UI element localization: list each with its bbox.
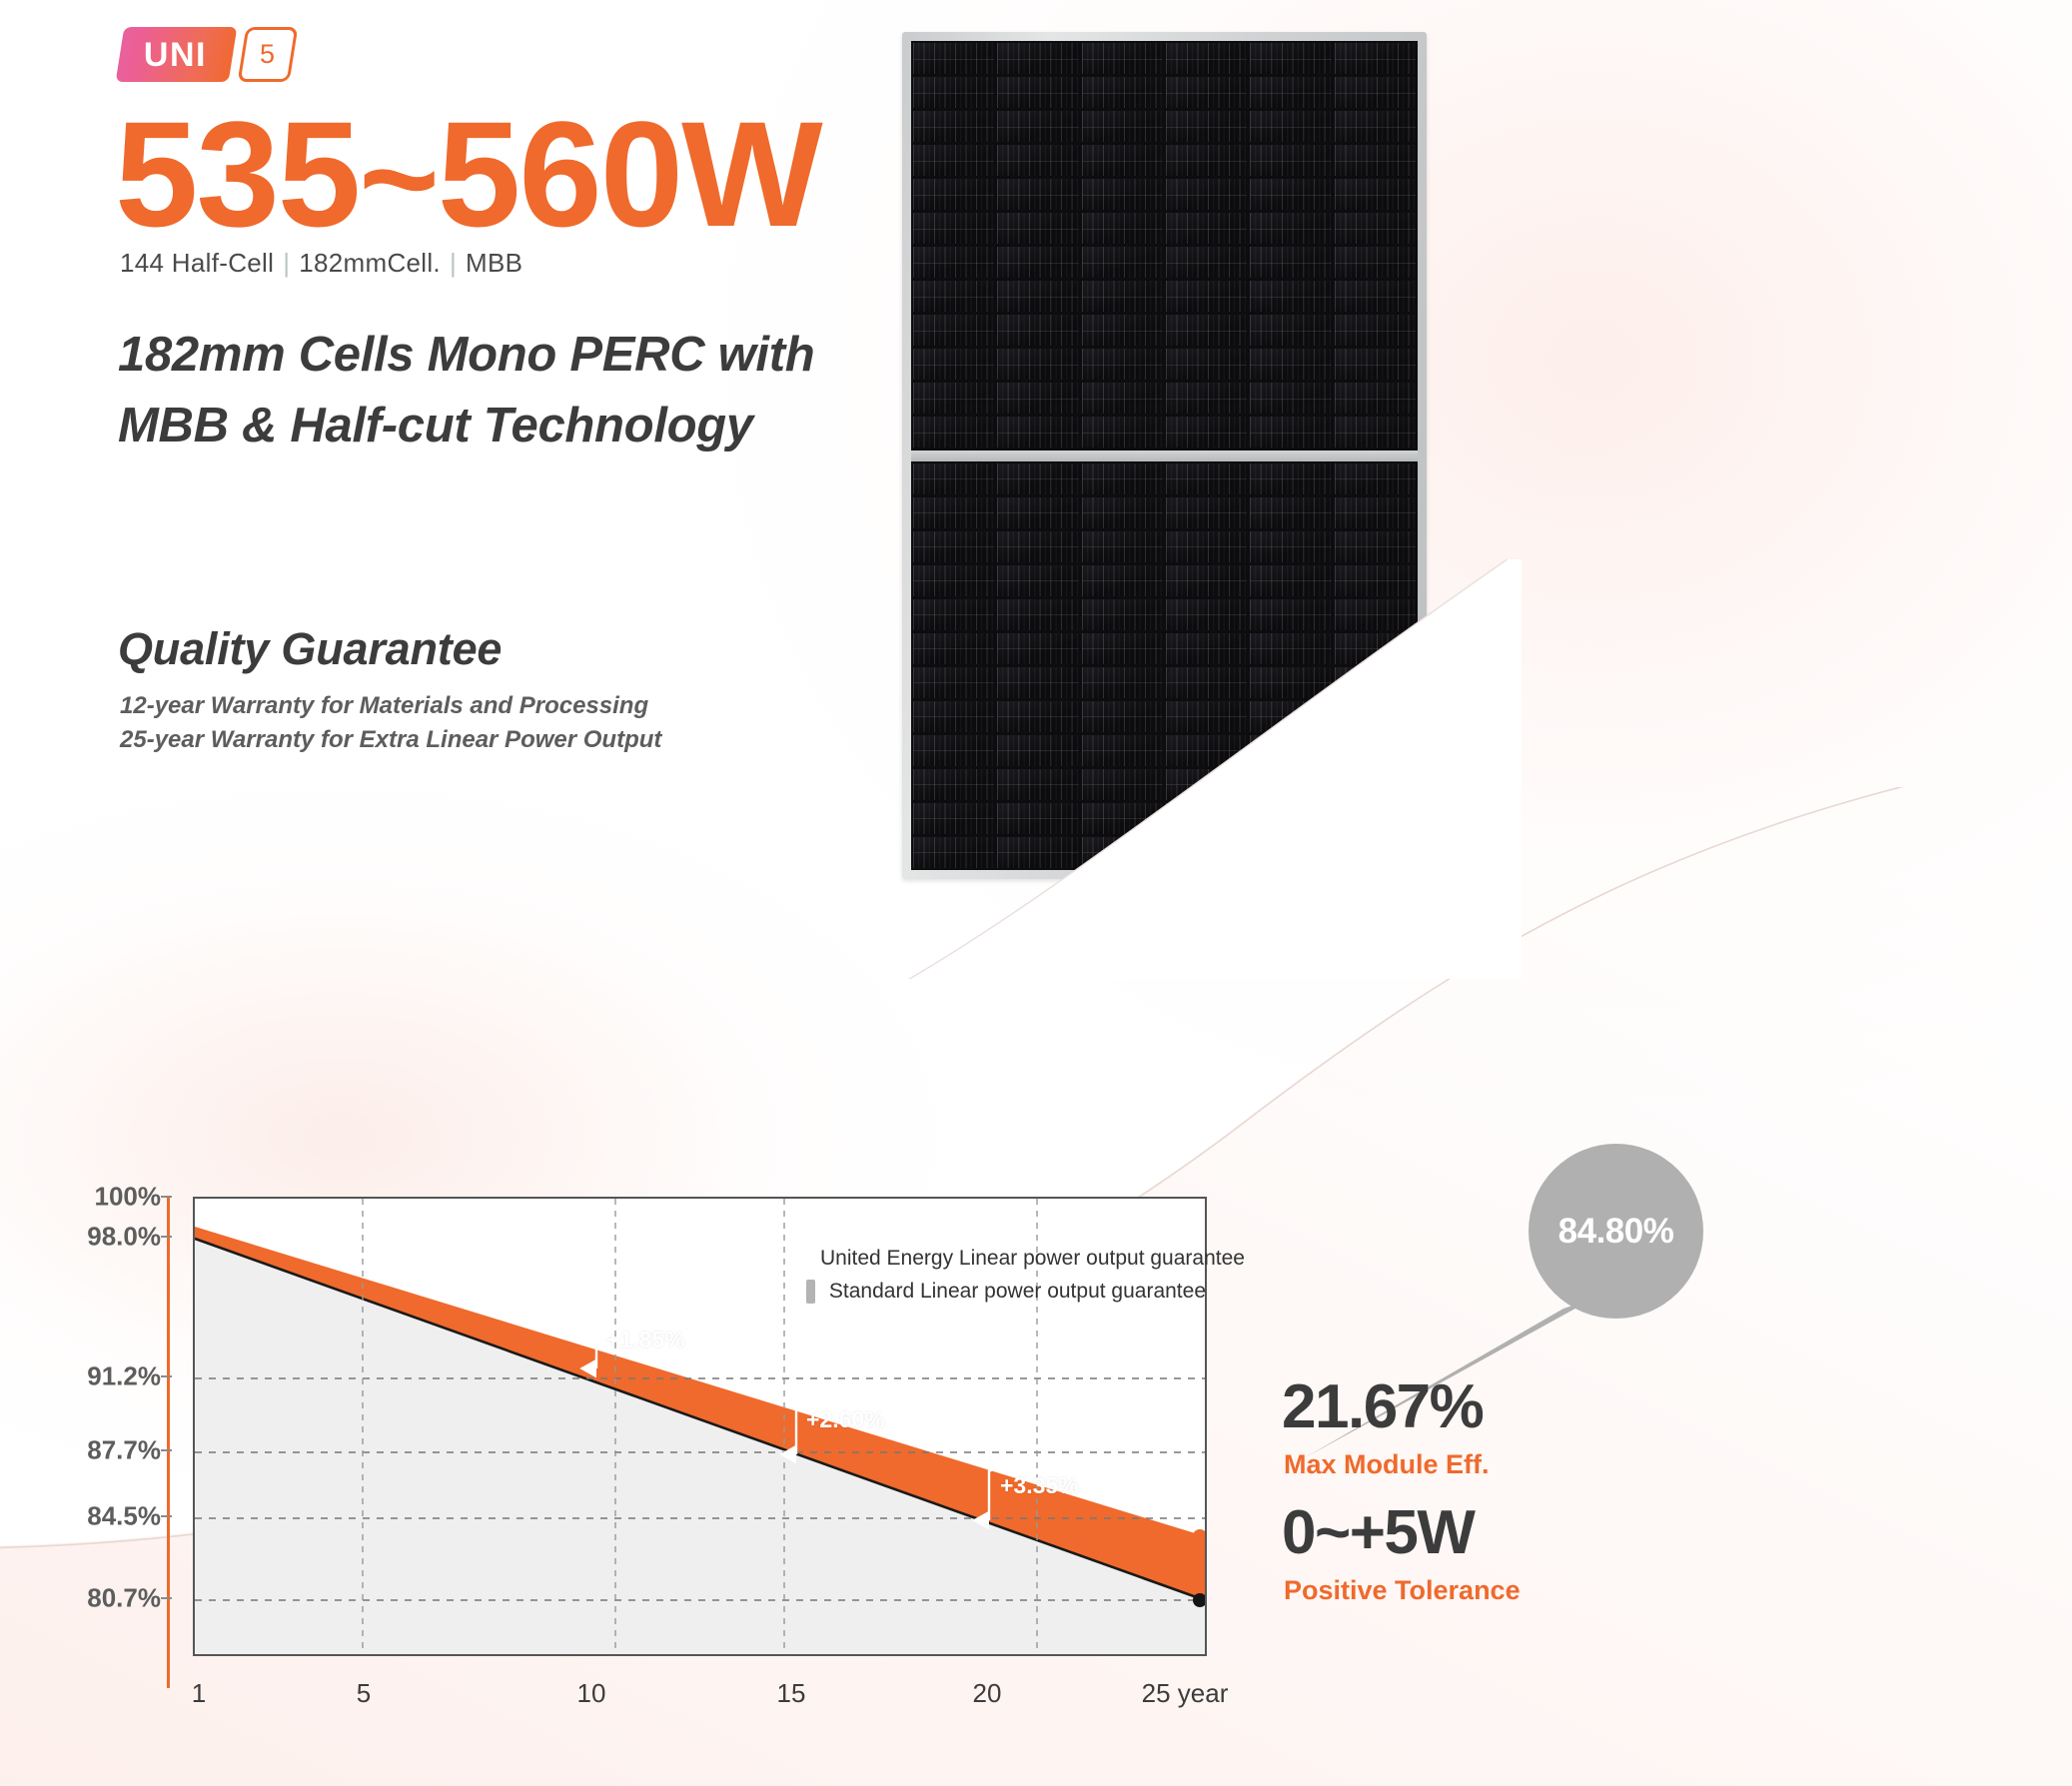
solar-cell [1250, 349, 1331, 380]
cell-column [1166, 463, 1247, 869]
quality-guarantee-lines: 12-year Warranty for Materials and Proce… [120, 689, 661, 757]
solar-cell [913, 145, 994, 176]
solar-cell [913, 633, 994, 664]
solar-cell [1250, 463, 1331, 494]
spec-separator-2: | [441, 248, 466, 278]
solar-cell [913, 497, 994, 528]
solar-cell [1335, 565, 1416, 596]
generation-number-box: 5 [238, 27, 299, 82]
solar-cell [1082, 531, 1163, 562]
y-tick-mark-80 [161, 1597, 172, 1599]
x-tick-label-20: 20 [973, 1678, 1002, 1709]
solar-cell [1250, 281, 1331, 312]
cell-column [913, 43, 994, 448]
cell-column [1166, 43, 1247, 448]
cell-column [1082, 463, 1163, 869]
solar-cell [1250, 531, 1331, 562]
solar-cell [913, 531, 994, 562]
solar-cell [997, 281, 1078, 312]
x-tick-label-5: 5 [357, 1678, 371, 1709]
power-range-max: 560W [438, 90, 821, 258]
solar-cell [913, 315, 994, 346]
solar-cell [997, 667, 1078, 698]
solar-cell [1250, 77, 1331, 108]
solar-cell [1335, 383, 1416, 414]
solar-cell [997, 565, 1078, 596]
solar-cell [997, 701, 1078, 732]
solar-cell [1250, 837, 1331, 868]
solar-cell [997, 179, 1078, 210]
solar-cell [997, 349, 1078, 380]
cell-column [1250, 463, 1331, 869]
solar-cell [1335, 417, 1416, 447]
y-tick-mark-100 [161, 1196, 172, 1198]
solar-cell [1166, 837, 1247, 868]
solar-cell [1250, 497, 1331, 528]
solar-cell [913, 565, 994, 596]
solar-cell [1082, 417, 1163, 447]
legend-swatch-gray [806, 1280, 815, 1304]
solar-cell [1166, 247, 1247, 278]
legend-item-united-energy: United Energy Linear power output guaran… [806, 1247, 1206, 1271]
solar-cell [1335, 497, 1416, 528]
solar-cell [1250, 633, 1331, 664]
solar-cell [1082, 565, 1163, 596]
solar-cell [1335, 633, 1416, 664]
solar-cell [1166, 77, 1247, 108]
max-module-efficiency-value: 21.67% [1282, 1376, 1483, 1438]
spec-summary-line: 144 Half-Cell|182mmCell.|MBB [120, 248, 522, 279]
solar-cell [913, 179, 994, 210]
solar-cell [1335, 213, 1416, 244]
spec-item-busbar: MBB [466, 248, 522, 278]
spec-separator-1: | [274, 248, 299, 278]
solar-cell [1335, 43, 1416, 74]
solar-cell [1250, 667, 1331, 698]
solar-cell [1335, 667, 1416, 698]
solar-cell [1082, 247, 1163, 278]
solar-cell [1082, 497, 1163, 528]
y-tick-label-100: 100% [95, 1182, 162, 1213]
legend-label-united-energy: United Energy Linear power output guaran… [820, 1247, 1245, 1271]
solar-cell [1166, 315, 1247, 346]
module-frame [902, 32, 1427, 879]
solar-cell [1250, 111, 1331, 142]
delta-label-year20: +3.35% [1000, 1472, 1079, 1499]
solar-cell [1082, 769, 1163, 800]
solar-cell [913, 701, 994, 732]
solar-cell [913, 463, 994, 494]
solar-cell [1250, 179, 1331, 210]
x-tick-label-10: 10 [577, 1678, 606, 1709]
y-tick-label-84: 84.5% [87, 1501, 161, 1532]
cell-column [997, 43, 1078, 448]
solar-cell [997, 145, 1078, 176]
solar-cell [1082, 349, 1163, 380]
legend-item-standard: Standard Linear power output guarantee [806, 1280, 1206, 1304]
module-center-bar [911, 450, 1418, 461]
solar-cell [997, 315, 1078, 346]
spec-item-cell-size: 182mmCell. [299, 248, 441, 278]
solar-cell [1082, 111, 1163, 142]
chart-y-axis-labels: 100% 98.0% 91.2% 87.7% 84.5% 80.7% [0, 1159, 175, 1578]
solar-cell [1166, 213, 1247, 244]
solar-cell [1335, 349, 1416, 380]
solar-cell [913, 417, 994, 447]
solar-cell [1250, 803, 1331, 834]
solar-cell [997, 531, 1078, 562]
generation-number-label: 5 [261, 41, 276, 68]
solar-cell [1082, 837, 1163, 868]
power-range-min: 535 [115, 90, 359, 258]
y-tick-mark-91 [161, 1375, 172, 1377]
solar-cell [997, 803, 1078, 834]
solar-cell [1335, 281, 1416, 312]
y-tick-label-80: 80.7% [87, 1583, 161, 1614]
solar-cell [1335, 247, 1416, 278]
solar-cell [997, 417, 1078, 447]
solar-cell [1082, 145, 1163, 176]
solar-cell [1335, 145, 1416, 176]
solar-cell [913, 769, 994, 800]
solar-cell [1082, 599, 1163, 630]
solar-cell [1250, 565, 1331, 596]
solar-cell [1082, 463, 1163, 494]
x-tick-label-25: 25 year [1142, 1678, 1229, 1709]
solar-cell [1335, 179, 1416, 210]
solar-cell [913, 837, 994, 868]
solar-cell [1250, 315, 1331, 346]
solar-cell [913, 667, 994, 698]
solar-cell [997, 735, 1078, 766]
chart-legend: United Energy Linear power output guaran… [806, 1247, 1206, 1313]
solar-cell [997, 111, 1078, 142]
max-module-efficiency-label: Max Module Eff. [1284, 1451, 1490, 1478]
solar-cell [997, 43, 1078, 74]
solar-cell [1166, 281, 1247, 312]
solar-module-image [902, 32, 1427, 879]
cell-column [997, 463, 1078, 869]
solar-cell [1082, 179, 1163, 210]
end-of-warranty-output-bubble: 84.80% [1529, 1144, 1703, 1319]
solar-cell [1082, 735, 1163, 766]
cell-column [1250, 43, 1331, 448]
solar-cell [1335, 463, 1416, 494]
cell-column [913, 463, 994, 869]
y-tick-label-87: 87.7% [87, 1435, 161, 1466]
solar-cell [997, 633, 1078, 664]
x-tick-label-1: 1 [192, 1678, 206, 1709]
solar-cell [1166, 803, 1247, 834]
solar-cell [1166, 531, 1247, 562]
solar-cell [913, 213, 994, 244]
solar-cell [913, 349, 994, 380]
solar-cell [913, 803, 994, 834]
solar-cell [1335, 701, 1416, 732]
solar-cell [1335, 735, 1416, 766]
solar-cell [1335, 599, 1416, 630]
solar-cell [1082, 315, 1163, 346]
power-range-tilde: ~ [359, 102, 438, 256]
solar-cell [1166, 43, 1247, 74]
solar-cell [1166, 463, 1247, 494]
solar-cell [1250, 701, 1331, 732]
cell-column [1082, 43, 1163, 448]
module-face [911, 41, 1418, 870]
solar-cell [997, 77, 1078, 108]
y-tick-mark-98 [161, 1236, 172, 1238]
solar-cell [1166, 497, 1247, 528]
uni-pill-label: UNI [144, 38, 207, 72]
solar-cell [1166, 667, 1247, 698]
solar-cell [1250, 735, 1331, 766]
cell-array-top-half [911, 41, 1418, 450]
solar-cell [913, 383, 994, 414]
solar-cell [1335, 315, 1416, 346]
solar-cell [913, 281, 994, 312]
solar-cell [1335, 77, 1416, 108]
positive-tolerance-label: Positive Tolerance [1284, 1577, 1521, 1604]
spec-item-cells: 144 Half-Cell [120, 248, 274, 278]
solar-cell [1335, 837, 1416, 868]
solar-cell [1082, 281, 1163, 312]
cell-array-bottom-half [911, 461, 1418, 871]
solar-cell [1166, 565, 1247, 596]
solar-cell [913, 43, 994, 74]
solar-cell [1250, 769, 1331, 800]
quality-guarantee-title: Quality Guarantee [118, 623, 502, 675]
solar-cell [1166, 599, 1247, 630]
solar-cell [1082, 383, 1163, 414]
solar-cell [1082, 667, 1163, 698]
uni-pill: UNI [116, 27, 238, 82]
uni5-badge: UNI 5 [120, 27, 294, 82]
solar-cell [997, 497, 1078, 528]
solar-cell [1166, 383, 1247, 414]
cell-column [1335, 463, 1416, 869]
solar-cell [1082, 213, 1163, 244]
cell-column [1335, 43, 1416, 448]
solar-cell [1082, 803, 1163, 834]
power-degradation-chart: 100% 98.0% 91.2% 87.7% 84.5% 80.7% [0, 1159, 1299, 1758]
positive-tolerance-value: 0~+5W [1282, 1502, 1474, 1564]
y-tick-label-91: 91.2% [87, 1361, 161, 1392]
delta-label-year15: +2.60% [806, 1406, 885, 1433]
solar-cell [913, 77, 994, 108]
solar-cell [997, 463, 1078, 494]
solar-cell [1250, 247, 1331, 278]
warranty-line-power: 25-year Warranty for Extra Linear Power … [120, 723, 661, 757]
key-figures-panel: 84.80% 21.67% Max Module Eff. 0~+5W Posi… [1264, 1159, 2053, 1778]
solar-cell [1166, 735, 1247, 766]
product-headline: 182mm Cells Mono PERC with MBB & Half-cu… [118, 320, 897, 461]
solar-cell [913, 247, 994, 278]
solar-cell [1250, 145, 1331, 176]
legend-label-standard: Standard Linear power output guarantee [829, 1280, 1206, 1304]
solar-cell [1335, 111, 1416, 142]
solar-cell [997, 383, 1078, 414]
solar-cell [997, 837, 1078, 868]
solar-cell [1082, 43, 1163, 74]
solar-cell [1082, 701, 1163, 732]
solar-cell [1250, 383, 1331, 414]
delta-label-year10: +1.85% [606, 1327, 685, 1353]
solar-cell [1166, 111, 1247, 142]
chart-plot-area: +1.85% +2.60% +3.35% United Energy Linea… [193, 1197, 1207, 1656]
solar-cell [997, 769, 1078, 800]
solar-cell [1335, 531, 1416, 562]
solar-cell [1166, 701, 1247, 732]
solar-cell [1166, 179, 1247, 210]
solar-cell [1250, 417, 1331, 447]
solar-cell [1166, 417, 1247, 447]
solar-cell [1250, 213, 1331, 244]
solar-cell [1166, 769, 1247, 800]
solar-cell [1335, 803, 1416, 834]
solar-cell [1082, 77, 1163, 108]
solar-cell [1166, 349, 1247, 380]
solar-cell [913, 599, 994, 630]
solar-cell [913, 735, 994, 766]
solar-cell [997, 599, 1078, 630]
power-range-title: 535~560W [115, 96, 821, 254]
x-tick-label-15: 15 [777, 1678, 806, 1709]
solar-cell [1082, 633, 1163, 664]
solar-cell [1250, 43, 1331, 74]
solar-cell [1335, 769, 1416, 800]
y-tick-label-98: 98.0% [87, 1222, 161, 1253]
solar-cell [997, 213, 1078, 244]
solar-cell [1166, 145, 1247, 176]
warranty-line-materials: 12-year Warranty for Materials and Proce… [120, 689, 661, 723]
solar-cell [997, 247, 1078, 278]
y-tick-mark-87 [161, 1449, 172, 1451]
solar-cell [1166, 633, 1247, 664]
solar-cell [1250, 599, 1331, 630]
chart-x-axis-labels: 1 5 10 15 20 25 year [0, 1678, 1299, 1738]
solar-cell [913, 111, 994, 142]
y-tick-mark-84 [161, 1515, 172, 1517]
end-of-warranty-output-value: 84.80% [1558, 1212, 1674, 1252]
